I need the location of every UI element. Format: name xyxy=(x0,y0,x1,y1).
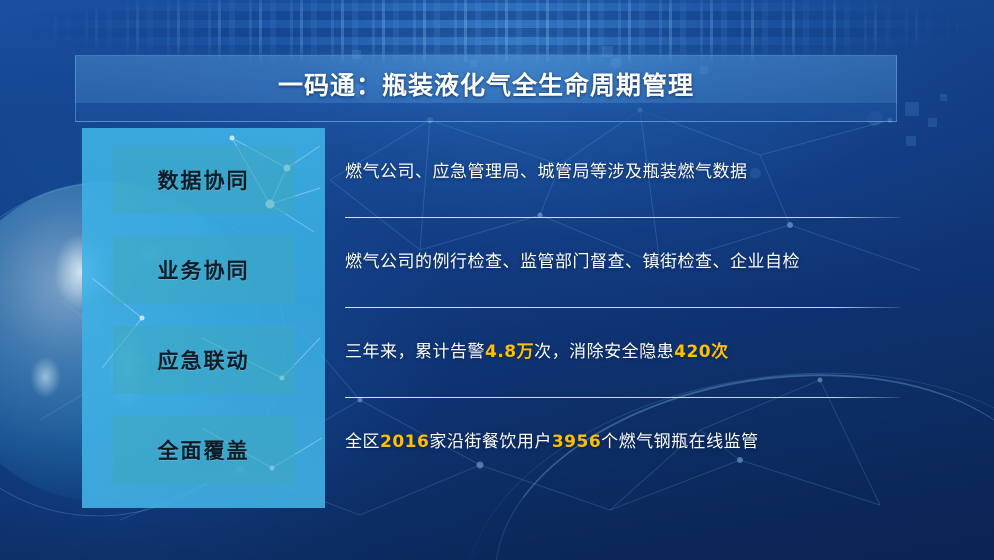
detail-row-text: 全区2016家沿街餐饮用户3956个燃气钢瓶在线监管 xyxy=(345,430,759,456)
highlighted-metric: 3956 xyxy=(552,432,601,452)
detail-row-text: 三年来，累计告警4.8万次，消除安全隐患420次 xyxy=(345,340,729,366)
text-run: 家沿街餐饮用户 xyxy=(429,432,552,452)
pill-label: 应急联动 xyxy=(158,345,250,375)
highlighted-metric: 420次 xyxy=(674,342,729,362)
pill-label: 数据协同 xyxy=(158,165,250,195)
category-panel: 数据协同 业务协同 应急联动 全面覆盖 xyxy=(82,128,325,508)
text-run: 三年来，累计告警 xyxy=(345,342,485,362)
detail-row: 燃气公司的例行检查、监管部门督查、镇街检查、企业自检 xyxy=(345,218,900,308)
header-bar: 一码通：瓶装液化气全生命周期管理 xyxy=(75,55,897,122)
pill-business-collaboration[interactable]: 业务协同 xyxy=(113,236,295,304)
detail-row: 燃气公司、应急管理局、城管局等涉及瓶装燃气数据 xyxy=(345,128,900,218)
pill-label: 全面覆盖 xyxy=(158,435,250,465)
pill-label: 业务协同 xyxy=(158,255,250,285)
page-title: 一码通：瓶装液化气全生命周期管理 xyxy=(278,66,694,102)
detail-row-text: 燃气公司的例行检查、监管部门督查、镇街检查、企业自检 xyxy=(345,250,800,276)
detail-rows: 燃气公司、应急管理局、城管局等涉及瓶装燃气数据 燃气公司的例行检查、监管部门督查… xyxy=(345,128,900,508)
slide-root: 一码通：瓶装液化气全生命周期管理 数据协同 xyxy=(0,0,994,560)
text-run: 个燃气钢瓶在线监管 xyxy=(601,432,759,452)
highlighted-metric: 2016 xyxy=(380,432,429,452)
pill-emergency-linkage[interactable]: 应急联动 xyxy=(113,326,295,394)
highlighted-metric: 4.8万 xyxy=(485,342,534,362)
text-run: 燃气公司的例行检查、监管部门督查、镇街检查、企业自检 xyxy=(345,252,800,272)
text-run: 全区 xyxy=(345,432,380,452)
pill-data-collaboration[interactable]: 数据协同 xyxy=(113,146,295,214)
barcode-pattern-decoration xyxy=(0,0,994,62)
detail-row-text: 燃气公司、应急管理局、城管局等涉及瓶装燃气数据 xyxy=(345,160,748,186)
detail-row: 三年来，累计告警4.8万次，消除安全隐患420次 xyxy=(345,308,900,398)
detail-row: 全区2016家沿街餐饮用户3956个燃气钢瓶在线监管 xyxy=(345,398,900,488)
pill-full-coverage[interactable]: 全面覆盖 xyxy=(113,416,295,484)
text-run: 燃气公司、应急管理局、城管局等涉及瓶装燃气数据 xyxy=(345,162,748,182)
text-run: 次，消除安全隐患 xyxy=(534,342,674,362)
